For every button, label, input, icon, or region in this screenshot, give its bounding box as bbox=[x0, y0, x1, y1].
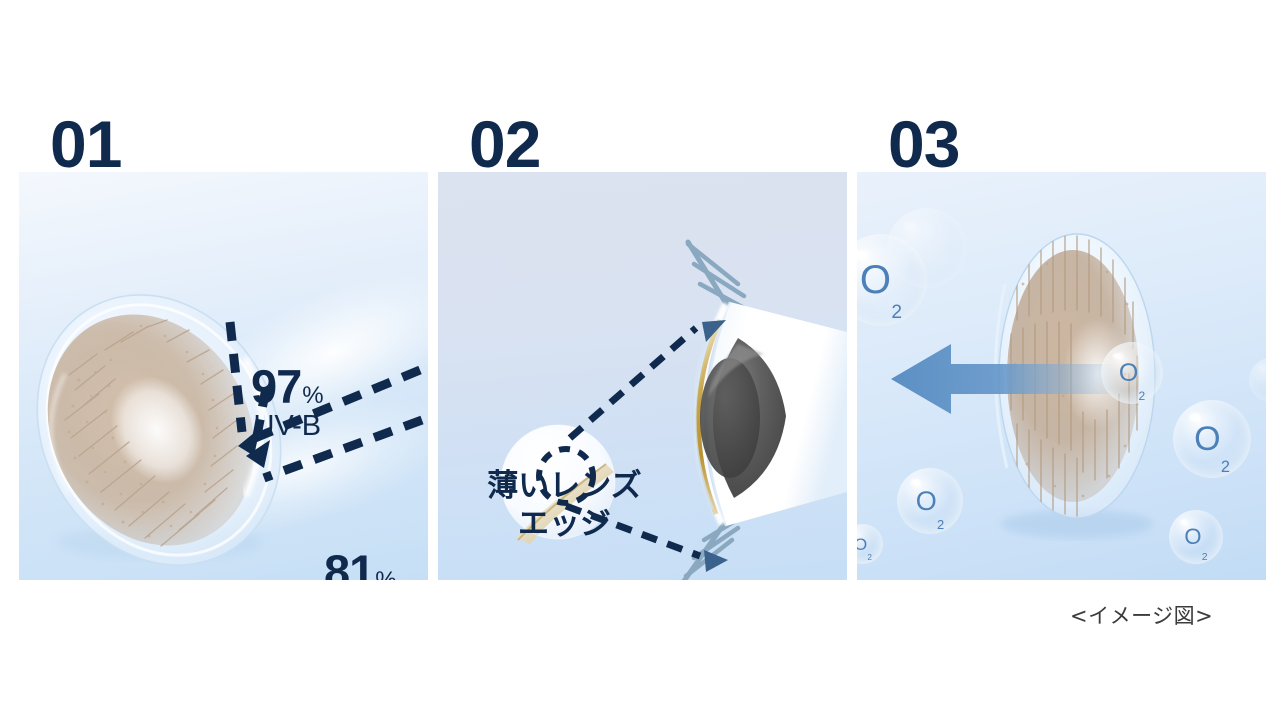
oxygen-bubble: O2 bbox=[1169, 510, 1223, 564]
uv-a-value-row: 81% bbox=[324, 550, 397, 580]
oxygen-flow-arrow-icon bbox=[885, 342, 1135, 416]
image-disclaimer-caption: <イメージ図> bbox=[1070, 600, 1213, 630]
oxygen-bubble-decorative bbox=[1249, 358, 1266, 402]
uv-a-label-group: 81% UV-A bbox=[324, 550, 397, 580]
panel-oxygen-permeability: O2 O2 O2 O2 O2 O2 bbox=[857, 172, 1266, 580]
oxygen-subscript: 2 bbox=[1139, 390, 1146, 402]
oxygen-subscript: 2 bbox=[891, 303, 902, 322]
panel-number-01: 01 bbox=[50, 111, 121, 177]
oxygen-subscript: 2 bbox=[937, 519, 944, 532]
oxygen-symbol: O bbox=[1184, 526, 1201, 548]
uv-pointer-arrows-icon bbox=[194, 232, 428, 492]
panel-thin-lens-edge: 薄いレンズ エッジ bbox=[438, 172, 847, 580]
oxygen-subscript: 2 bbox=[1202, 552, 1208, 563]
uv-b-value-row: 97% bbox=[251, 365, 324, 410]
oxygen-symbol: O bbox=[860, 260, 891, 300]
thin-lens-edge-label: 薄いレンズ エッジ bbox=[457, 468, 672, 544]
diagram-stage: 97% UV-B 81% UV-A bbox=[0, 0, 1284, 702]
oxygen-bubble: O2 bbox=[1101, 342, 1163, 404]
oxygen-symbol: O bbox=[916, 488, 937, 515]
oxygen-symbol: O bbox=[1194, 422, 1220, 456]
uv-a-value: 81 bbox=[324, 545, 374, 580]
uv-b-band: UV-B bbox=[251, 411, 324, 441]
uv-b-label-group: 97% UV-B bbox=[251, 365, 324, 441]
oxygen-bubble: O2 bbox=[897, 468, 963, 534]
oxygen-bubble: O2 bbox=[857, 524, 883, 564]
bubble-specular-icon bbox=[1189, 413, 1201, 422]
bubble-specular-icon bbox=[1258, 365, 1265, 370]
bubble-specular-icon bbox=[903, 222, 916, 231]
thin-lens-edge-label-line-1: 薄いレンズ bbox=[457, 468, 672, 506]
uv-b-value: 97 bbox=[251, 360, 301, 413]
oxygen-subscript: 2 bbox=[1221, 459, 1230, 475]
panel-number-02: 02 bbox=[469, 111, 540, 177]
uv-b-unit: % bbox=[302, 382, 323, 409]
thin-lens-edge-label-line-2: エッジ bbox=[457, 506, 672, 544]
oxygen-bubble: O2 bbox=[1173, 400, 1251, 478]
oxygen-symbol: O bbox=[857, 536, 867, 553]
oxygen-bubble-decorative bbox=[887, 208, 967, 288]
oxygen-subscript: 2 bbox=[867, 554, 872, 562]
panel-uv-protection: 97% UV-B 81% UV-A bbox=[19, 172, 428, 580]
oxygen-symbol: O bbox=[1119, 361, 1138, 386]
panel-number-03: 03 bbox=[888, 111, 959, 177]
uv-a-unit: % bbox=[375, 567, 396, 580]
